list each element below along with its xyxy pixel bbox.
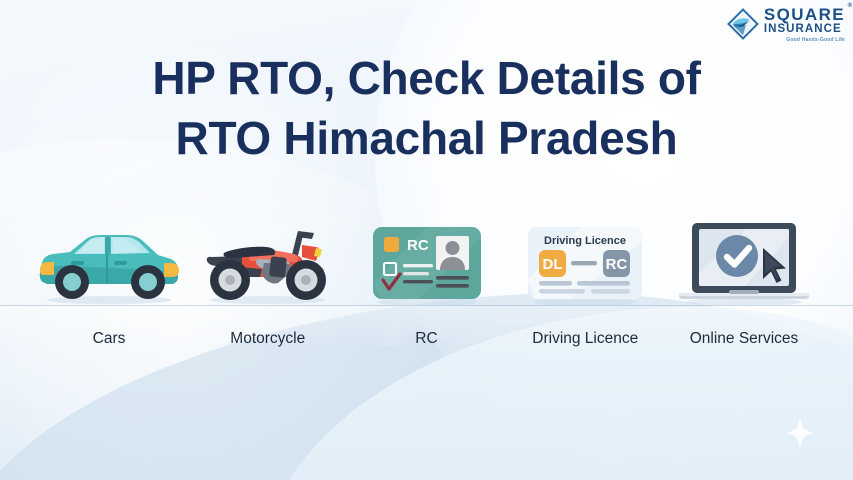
brand-line-1-text: SQUARE <box>764 5 845 24</box>
dl-badge-text: DL <box>543 256 563 273</box>
laptop-art <box>675 210 813 307</box>
motorcycle-art <box>198 210 338 307</box>
page-title-line-1: HP RTO, Check Details of <box>0 48 853 108</box>
brand-logo[interactable]: SQUARE ® INSURANCE Good Hands-Good Life <box>726 6 845 43</box>
category-row: Cars <box>0 208 853 348</box>
car-art <box>34 210 184 307</box>
driving-licence-header-text: Driving Licence <box>544 235 626 247</box>
category-label-driving-licence: Driving Licence <box>532 330 638 348</box>
sparkle-icon <box>785 416 815 450</box>
category-label-cars: Cars <box>93 330 126 348</box>
dl-rc-badge-text: RC <box>606 256 628 273</box>
driving-licence-icon: Driving Licence DL RC <box>523 219 647 307</box>
slide-canvas: SQUARE ® INSURANCE Good Hands-Good Life … <box>0 0 853 480</box>
brand-wordmark: SQUARE ® INSURANCE Good Hands-Good Life <box>764 6 845 43</box>
rc-card-badge-text: RC <box>407 237 429 254</box>
driving-licence-art: Driving Licence DL RC <box>523 210 647 307</box>
category-label-online-services: Online Services <box>690 330 799 348</box>
category-item-online-services[interactable]: Online Services <box>665 210 823 348</box>
category-item-cars[interactable]: Cars <box>30 210 188 348</box>
brand-line-2: INSURANCE <box>764 24 845 36</box>
category-item-rc[interactable]: RC RC <box>348 210 506 348</box>
category-label-motorcycle: Motorcycle <box>230 330 305 348</box>
category-label-rc: RC <box>415 330 437 348</box>
registered-trademark-icon: ® <box>848 3 852 9</box>
rc-card-art: RC <box>367 210 487 307</box>
page-title: HP RTO, Check Details of RTO Himachal Pr… <box>0 48 853 169</box>
rc-card-icon: RC <box>367 219 487 307</box>
brand-line-1: SQUARE ® <box>764 6 845 23</box>
laptop-checkmark-icon <box>675 217 813 307</box>
square-diamond-logo-icon <box>726 7 760 41</box>
brand-tagline: Good Hands-Good Life <box>764 38 845 43</box>
motorcycle-icon <box>198 223 338 307</box>
page-title-line-2: RTO Himachal Pradesh <box>0 108 853 168</box>
car-icon <box>34 227 184 307</box>
category-item-driving-licence[interactable]: Driving Licence DL RC Driving Licence <box>506 210 664 348</box>
category-item-motorcycle[interactable]: Motorcycle <box>189 210 347 348</box>
